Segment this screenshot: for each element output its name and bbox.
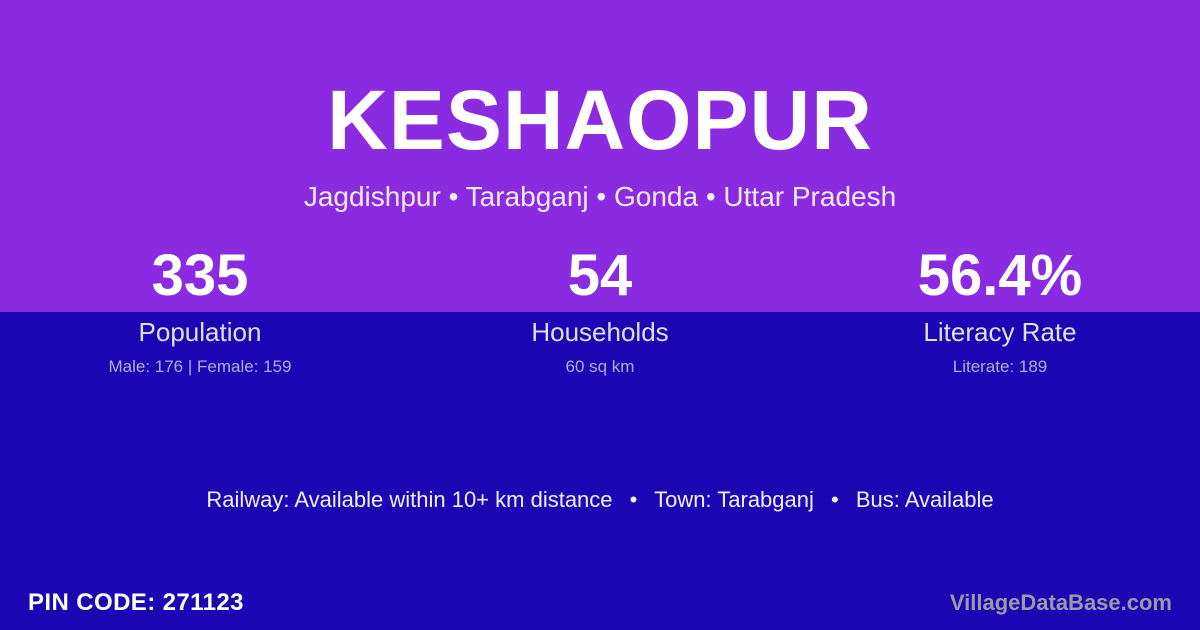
amenity-separator-1: • <box>619 485 649 515</box>
amenity-town: Town: Tarabganj <box>654 487 814 512</box>
village-location-breadcrumb: Jagdishpur • Tarabganj • Gonda • Uttar P… <box>0 162 1200 211</box>
stats-row: 335 Population Male: 176 | Female: 159 5… <box>0 246 1200 376</box>
village-name-title: KESHAOPUR <box>0 0 1200 162</box>
households-label: Households <box>400 318 800 346</box>
stat-block-households: 54 Households 60 sq km <box>400 246 800 376</box>
amenity-separator-2: • <box>820 485 850 515</box>
stat-block-literacy: 56.4% Literacy Rate Literate: 189 <box>800 246 1200 376</box>
population-label: Population <box>0 318 400 346</box>
literacy-rate-label: Literacy Rate <box>800 318 1200 346</box>
card-footer: PIN CODE: 271123 VillageDataBase.com <box>0 576 1200 630</box>
amenities-line: Railway: Available within 10+ km distanc… <box>0 485 1200 515</box>
literate-count: Literate: 189 <box>800 357 1200 376</box>
amenity-railway: Railway: Available within 10+ km distanc… <box>206 487 612 512</box>
village-info-card: KESHAOPUR Jagdishpur • Tarabganj • Gonda… <box>0 0 1200 630</box>
households-value: 54 <box>400 246 800 306</box>
site-brand-label: VillageDataBase.com <box>950 591 1172 615</box>
card-header: KESHAOPUR Jagdishpur • Tarabganj • Gonda… <box>0 0 1200 211</box>
stat-block-population: 335 Population Male: 176 | Female: 159 <box>0 246 400 376</box>
pin-code-label: PIN CODE: 271123 <box>28 590 244 616</box>
population-value: 335 <box>0 246 400 306</box>
literacy-rate-value: 56.4% <box>800 246 1200 306</box>
population-breakdown: Male: 176 | Female: 159 <box>0 357 400 376</box>
amenity-bus: Bus: Available <box>856 487 994 512</box>
households-area: 60 sq km <box>400 357 800 376</box>
